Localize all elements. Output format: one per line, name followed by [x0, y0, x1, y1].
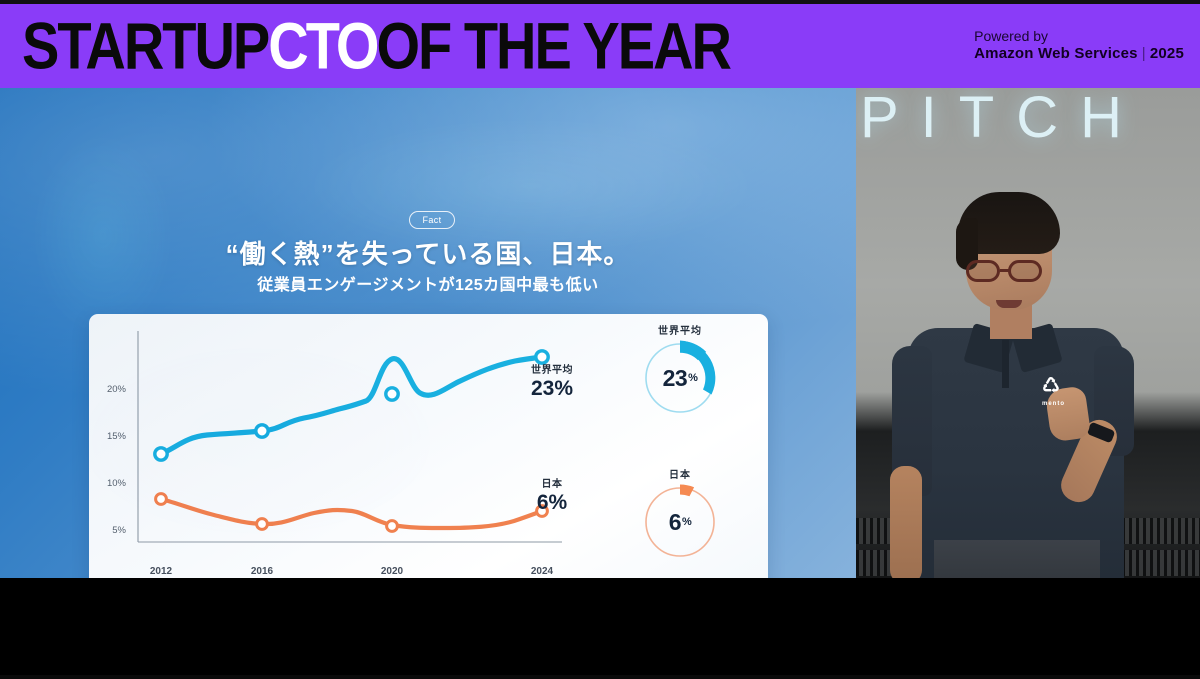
- bottom-letterbox: [0, 675, 1200, 679]
- donut-world-average: 世界平均 23%: [605, 322, 755, 417]
- donut-world-value: 23%: [641, 339, 719, 417]
- donut-japan-caption: 日本: [605, 466, 755, 481]
- series-label-japan: 日本 6%: [504, 475, 600, 515]
- glasses-right-lens: [1008, 260, 1042, 282]
- chart-card: 20% 15% 10% 5%: [89, 314, 768, 578]
- slide-subheadline: 従業員エンゲージメントが125カ国中最も低い: [0, 271, 856, 295]
- powered-by-label: Powered by: [974, 28, 1184, 46]
- donut-japan-number: 6: [669, 509, 681, 536]
- point-world-2012: [155, 448, 167, 460]
- fact-badge: Fact: [409, 211, 455, 229]
- donut-world-ring: 23%: [641, 339, 719, 417]
- donut-japan: 日本 6%: [605, 466, 755, 561]
- sponsor-name: Amazon Web Services: [974, 45, 1138, 62]
- event-banner: STARTUPCTOOF THE YEAR Powered by Amazon …: [0, 4, 1200, 88]
- donut-world-number: 23: [663, 365, 688, 392]
- series-label-world-average: 世界平均 23%: [504, 361, 600, 401]
- donut-japan-unit: %: [682, 516, 691, 528]
- point-japan-2020: [387, 521, 398, 532]
- speaker-shirt-placket: [1002, 340, 1009, 388]
- x-tick-2016: 2016: [240, 566, 284, 577]
- y-tick-15: 15%: [92, 431, 126, 442]
- event-title-part2: OF THE YEAR: [377, 13, 730, 79]
- series-label-japan-value: 6%: [504, 491, 600, 515]
- speaker-figure: ♺mento: [856, 88, 1200, 578]
- y-tick-5: 5%: [92, 525, 126, 536]
- donut-world-caption: 世界平均: [605, 322, 755, 337]
- series-label-world-value: 23%: [504, 377, 600, 401]
- series-label-japan-name: 日本: [504, 475, 600, 490]
- sponsor-separator: |: [1138, 45, 1150, 62]
- speaker-shirt-logo: ♺mento: [1042, 376, 1068, 402]
- series-label-world-name: 世界平均: [504, 361, 600, 376]
- speaker-trousers: [934, 540, 1100, 578]
- donut-gauges: 世界平均 23% 日本: [605, 322, 755, 578]
- y-tick-20: 20%: [92, 384, 126, 395]
- series-world-average-line: [161, 357, 542, 454]
- series-japan-line: [161, 499, 542, 528]
- x-tick-2020: 2020: [370, 566, 414, 577]
- sponsor-year: 2025: [1150, 45, 1184, 62]
- y-tick-10: 10%: [92, 478, 126, 489]
- point-world-2016: [256, 425, 268, 437]
- point-japan-2012: [156, 494, 167, 505]
- event-title-part1: STARTUP: [22, 13, 268, 79]
- broadcast-lower-bar: Real Talk, Real Tech. FINALIST PITCH 05:…: [0, 578, 1200, 679]
- event-title: STARTUPCTOOF THE YEAR: [22, 13, 730, 79]
- speaker-mouth: [996, 300, 1022, 308]
- speaker-glasses: [966, 260, 1054, 282]
- event-title-cto: CTO: [268, 13, 376, 79]
- x-tick-2012: 2012: [139, 566, 183, 577]
- point-japan-2016: [257, 519, 268, 530]
- sponsor-block: Powered by Amazon Web Services|2025: [974, 28, 1184, 64]
- presentation-slide: Fact “働く熱”を失っている国、日本。 従業員エンゲージメントが125カ国中…: [0, 88, 856, 578]
- x-tick-2024: 2024: [520, 566, 564, 577]
- donut-japan-ring: 6%: [641, 483, 719, 561]
- glasses-left-lens: [966, 260, 1000, 282]
- slide-headline: “働く熱”を失っている国、日本。: [0, 234, 856, 271]
- line-chart: 20% 15% 10% 5%: [114, 327, 574, 577]
- donut-world-unit: %: [688, 372, 697, 384]
- donut-japan-value: 6%: [641, 483, 719, 561]
- speaker-left-forearm: [890, 466, 922, 578]
- speaker-shirt-logo-text: mento: [1042, 394, 1068, 414]
- speaker-video-feed: PITCH ♺mento: [856, 88, 1200, 578]
- broadcast-stage: STARTUPCTOOF THE YEAR Powered by Amazon …: [0, 0, 1200, 679]
- point-world-2020: [386, 388, 398, 400]
- sponsor-line: Amazon Web Services|2025: [974, 45, 1184, 64]
